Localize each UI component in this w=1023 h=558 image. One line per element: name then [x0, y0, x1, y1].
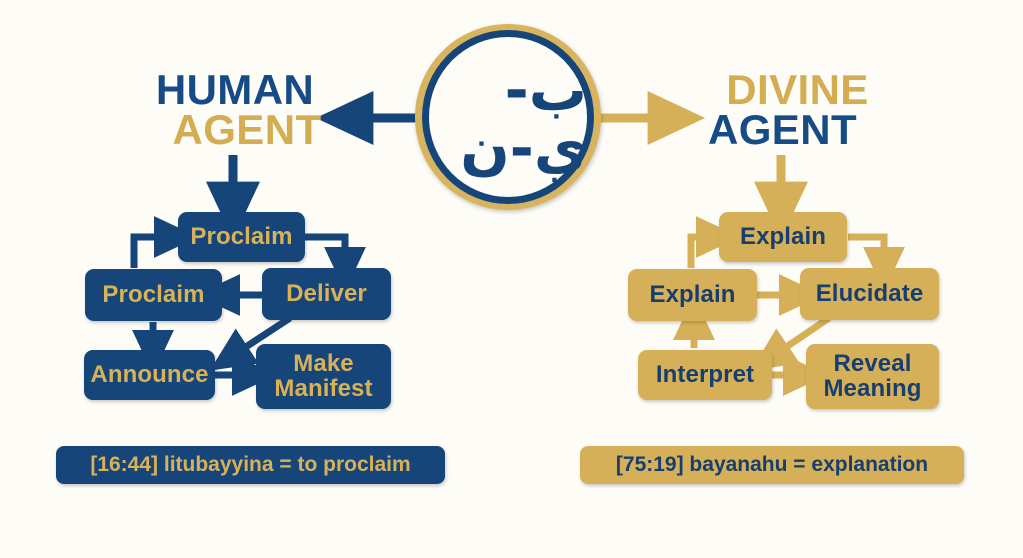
- node-proclaim-left-label: Proclaim: [102, 283, 204, 307]
- node-reveal-meaning[interactable]: Reveal Meaning: [806, 344, 939, 409]
- node-explain-left-label: Explain: [649, 283, 735, 307]
- node-proclaim-left[interactable]: Proclaim: [85, 269, 222, 321]
- human-heading-line1: HUMAN: [140, 70, 330, 110]
- node-elucidate[interactable]: Elucidate: [800, 268, 939, 320]
- human-agent-heading: HUMAN AGENT: [140, 70, 330, 151]
- arrow-proclaim-top-to-deliver: [305, 237, 345, 265]
- divine-caption-text: [75:19] bayanahu = explanation: [616, 453, 928, 477]
- node-make-manifest[interactable]: Make Manifest: [256, 344, 391, 409]
- node-announce-label: Announce: [90, 363, 208, 387]
- divine-heading-line2: AGENT: [700, 110, 865, 150]
- arrow-proclaim-left-to-proclaim-top: [134, 237, 172, 268]
- root-arabic-text: ب-ي-ن: [429, 61, 587, 177]
- human-heading-line2: AGENT: [164, 110, 330, 150]
- node-deliver[interactable]: Deliver: [262, 268, 391, 320]
- root-circle[interactable]: ب-ي-ن: [415, 24, 601, 210]
- node-explain-top-label: Explain: [740, 225, 826, 249]
- node-interpret-label: Interpret: [656, 363, 754, 387]
- diagram-canvas: ب-ي-ن HUMAN AGENT DIVINE AGENT Proclaim …: [0, 0, 1023, 558]
- node-announce[interactable]: Announce: [84, 350, 215, 400]
- arrow-explain-top-to-elucidate: [848, 237, 884, 265]
- arrow-explain-left-to-explain-top: [691, 237, 714, 268]
- divine-heading-line1: DIVINE: [700, 70, 895, 110]
- node-proclaim-top-label: Proclaim: [190, 225, 292, 249]
- node-explain-left[interactable]: Explain: [628, 269, 757, 321]
- root-circle-navy-ring: ب-ي-ن: [422, 30, 594, 204]
- node-deliver-label: Deliver: [286, 282, 367, 306]
- human-caption-text: [16:44] litubayyina = to proclaim: [90, 453, 410, 477]
- human-caption: [16:44] litubayyina = to proclaim: [56, 446, 445, 484]
- node-reveal-meaning-label: Reveal Meaning: [823, 352, 921, 401]
- root-circle-inner-gap: ب-ي-ن: [422, 31, 594, 203]
- node-interpret[interactable]: Interpret: [638, 350, 772, 400]
- node-make-manifest-label: Make Manifest: [274, 352, 372, 401]
- divine-agent-heading: DIVINE AGENT: [700, 70, 895, 151]
- node-proclaim-top[interactable]: Proclaim: [178, 212, 305, 262]
- node-explain-top[interactable]: Explain: [719, 212, 847, 262]
- divine-caption: [75:19] bayanahu = explanation: [580, 446, 964, 484]
- node-elucidate-label: Elucidate: [816, 282, 924, 306]
